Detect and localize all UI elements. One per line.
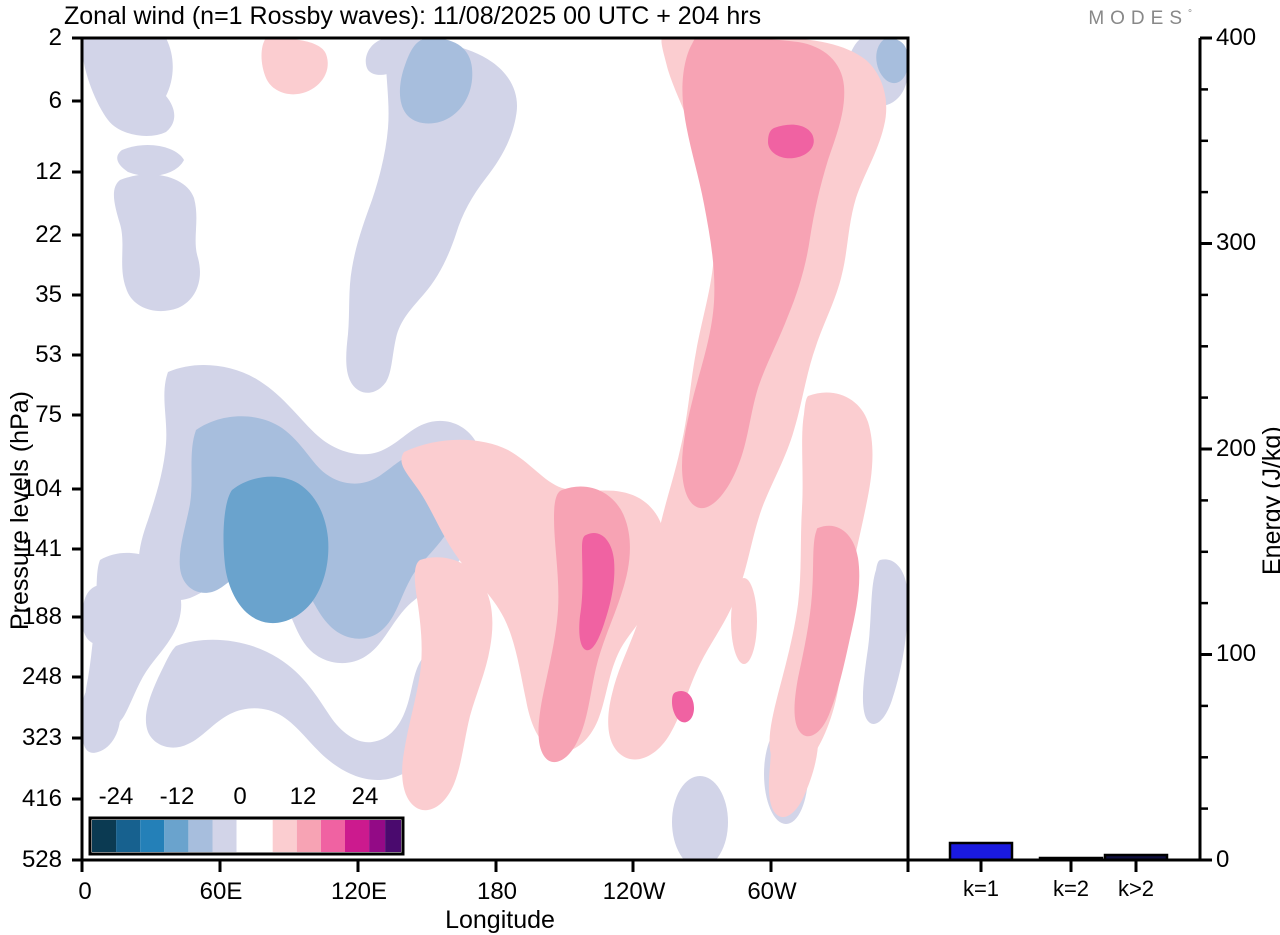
y-axis-label: Pressure levels (hPa) bbox=[6, 391, 35, 630]
energy-tick-label: 400 bbox=[1216, 24, 1256, 52]
colorbar-tick-label: -12 bbox=[160, 783, 195, 811]
x-tick-label: 0 bbox=[78, 878, 91, 906]
energy-panel-bg bbox=[908, 38, 1200, 860]
y-tick-label: 75 bbox=[35, 401, 62, 429]
energy-bar-label: k>2 bbox=[1118, 876, 1154, 902]
colorbar bbox=[90, 818, 403, 854]
energy-tick-label: 200 bbox=[1216, 435, 1256, 463]
energy-bar-label: k=2 bbox=[1053, 876, 1089, 902]
colorbar-tick-label: 0 bbox=[233, 783, 246, 811]
x-tick-label: 120E bbox=[331, 878, 387, 906]
y-tick-label: 35 bbox=[35, 281, 62, 309]
energy-bar-ticks bbox=[981, 860, 1136, 872]
y-tick-label: 12 bbox=[35, 158, 62, 186]
x-axis-ticks bbox=[82, 860, 908, 872]
x-tick-label: 60W bbox=[747, 878, 796, 906]
y-tick-label: 53 bbox=[35, 341, 62, 369]
energy-bar-label: k=1 bbox=[963, 876, 999, 902]
y-tick-label: 416 bbox=[22, 785, 62, 813]
y-tick-label: 528 bbox=[22, 846, 62, 874]
contour-field bbox=[82, 38, 908, 868]
energy-tick-label: 100 bbox=[1216, 640, 1256, 668]
x-tick-label: 120W bbox=[603, 878, 666, 906]
x-axis-label: Longitude bbox=[445, 906, 555, 935]
energy-axis-ticks bbox=[1200, 38, 1212, 860]
y-tick-label: 22 bbox=[35, 221, 62, 249]
y-tick-label: 6 bbox=[49, 87, 62, 115]
colorbar-tick-label: -24 bbox=[99, 783, 134, 811]
y-tick-label: 2 bbox=[49, 24, 62, 52]
chart-root: Zonal wind (n=1 Rossby waves): 11/08/202… bbox=[0, 0, 1280, 930]
colorbar-tick-label: 24 bbox=[352, 783, 379, 811]
x-tick-label: 60E bbox=[200, 878, 243, 906]
y-tick-label: 323 bbox=[22, 724, 62, 752]
x-tick-label: 180 bbox=[477, 878, 517, 906]
energy-bar-k1 bbox=[950, 843, 1012, 860]
energy-tick-label: 300 bbox=[1216, 229, 1256, 257]
energy-axis-label: Energy (J/kg) bbox=[1258, 426, 1280, 575]
colorbar-tick-label: 12 bbox=[290, 783, 317, 811]
energy-tick-label: 0 bbox=[1216, 846, 1229, 874]
y-tick-label: 248 bbox=[22, 663, 62, 691]
